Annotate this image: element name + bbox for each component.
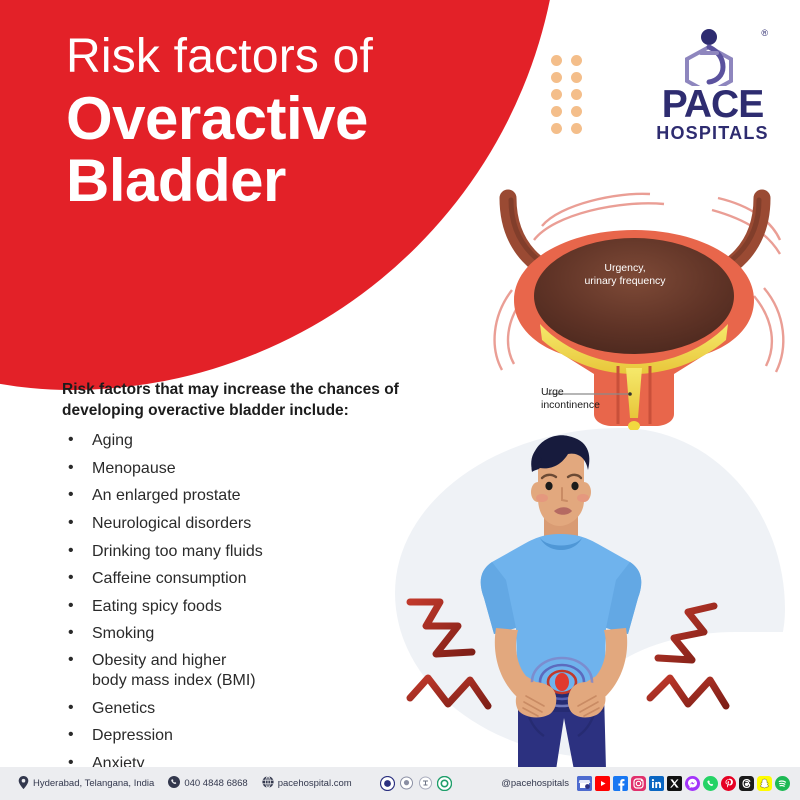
jci-badge <box>437 776 452 791</box>
spotify-icon[interactable] <box>775 776 790 791</box>
footer-bar: Hyderabad, Telangana, India 040 4848 686… <box>0 767 800 800</box>
footer-phone[interactable]: 040 4848 6868 <box>168 776 247 791</box>
phone-icon <box>168 776 180 791</box>
iso-badge <box>418 776 433 791</box>
google-business-icon[interactable] <box>577 776 592 791</box>
linkedin-icon[interactable] <box>649 776 664 791</box>
footer-website-text: pacehospital.com <box>278 778 352 789</box>
lead-line-2: developing overactive bladder include: <box>62 401 482 422</box>
snapchat-icon[interactable] <box>757 776 772 791</box>
social-media-group: @pacehospitals <box>501 776 800 791</box>
list-item: Genetics <box>62 698 482 719</box>
whatsapp-icon[interactable] <box>703 776 718 791</box>
bladder-anatomy-illustration <box>468 178 800 430</box>
decorative-dot-grid <box>551 55 591 140</box>
title-line-3: Bladder <box>66 150 373 212</box>
nabh-badge <box>380 776 395 791</box>
footer-website[interactable]: pacehospital.com <box>262 776 352 791</box>
youtube-icon[interactable] <box>595 776 610 791</box>
bladder-urgency-label-line2: urinary frequency <box>560 275 690 288</box>
nabl-badge <box>399 776 414 791</box>
social-handle: @pacehospitals <box>501 778 569 789</box>
facebook-icon[interactable] <box>613 776 628 791</box>
infographic-poster: Risk factors of Overactive Bladder ® PAC… <box>0 0 800 800</box>
footer-location-text: Hyderabad, Telangana, India <box>33 778 154 789</box>
bladder-urgency-label: Urgency, urinary frequency <box>560 262 690 288</box>
accreditation-badges <box>380 776 452 791</box>
messenger-icon[interactable] <box>685 776 700 791</box>
list-item: Caffeine consumption <box>62 568 482 589</box>
instagram-icon[interactable] <box>631 776 646 791</box>
logo-subtitle: HOSPITALS <box>645 123 780 145</box>
title-line-1: Risk factors of <box>66 30 373 84</box>
list-item: Obesity and higher body mass index (BMI) <box>62 651 482 691</box>
list-item: Eating spicy foods <box>62 596 482 617</box>
page-title: Risk factors of Overactive Bladder <box>66 30 373 213</box>
registered-trademark-icon: ® <box>761 28 768 38</box>
logo-wordmark: PACE <box>645 86 780 123</box>
list-item-line-2: body mass index (BMI) <box>92 672 256 689</box>
list-item: Aging <box>62 430 482 451</box>
list-item: Smoking <box>62 623 482 644</box>
urge-incontinence-label: Urge incontinence <box>541 386 600 413</box>
lead-line-1: Risk factors that may increase the chanc… <box>62 380 482 401</box>
list-item: Drinking too many fluids <box>62 541 482 562</box>
footer-location: Hyderabad, Telangana, India <box>18 776 154 792</box>
footer-contact-group: Hyderabad, Telangana, India 040 4848 686… <box>0 776 452 792</box>
pace-hospitals-logo: ® PACE HOSPITALS <box>645 28 780 145</box>
list-item: Menopause <box>62 458 482 479</box>
bladder-urgency-label-line1: Urgency, <box>560 262 690 275</box>
location-pin-icon <box>18 776 29 792</box>
list-item: An enlarged prostate <box>62 485 482 506</box>
lead-paragraph: Risk factors that may increase the chanc… <box>62 380 482 421</box>
list-item: Neurological disorders <box>62 513 482 534</box>
title-line-2: Overactive <box>66 88 373 150</box>
list-item-line-1: Obesity and higher <box>92 652 226 669</box>
risk-factors-list: Aging Menopause An enlarged prostate Neu… <box>62 430 482 800</box>
urge-incontinence-label-line1: Urge <box>541 386 600 399</box>
threads-icon[interactable] <box>739 776 754 791</box>
urge-incontinence-label-line2: incontinence <box>541 399 600 412</box>
globe-icon <box>262 776 274 791</box>
risk-factors-content: Risk factors that may increase the chanc… <box>62 380 482 800</box>
pinterest-icon[interactable] <box>721 776 736 791</box>
list-item: Depression <box>62 725 482 746</box>
x-twitter-icon[interactable] <box>667 776 682 791</box>
footer-phone-text: 040 4848 6868 <box>184 778 247 789</box>
logo-hexagon-person-icon: ® <box>645 28 780 86</box>
